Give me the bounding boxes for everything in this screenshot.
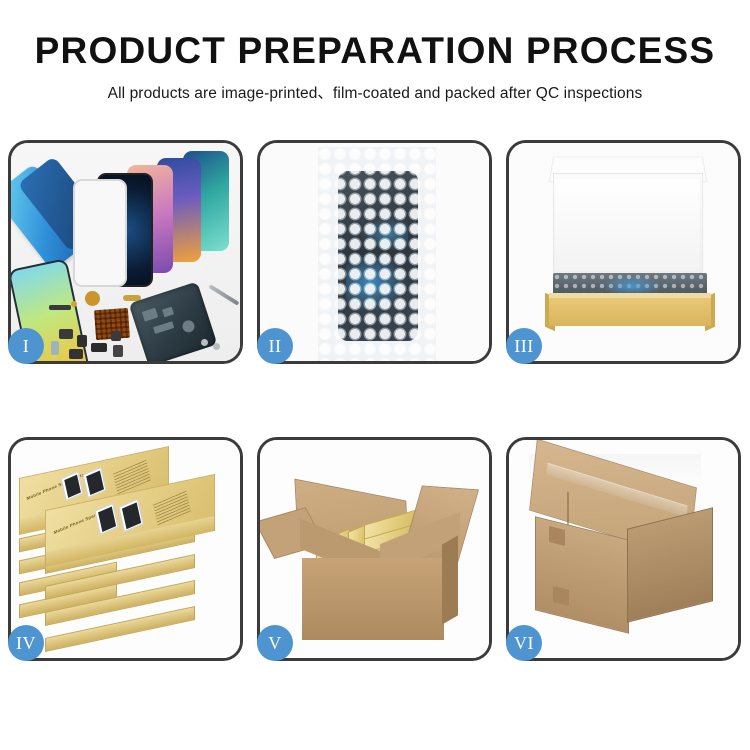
panel-image-2 (260, 143, 489, 361)
step-badge-3: III (506, 328, 542, 364)
panel-image-5 (260, 440, 489, 658)
scene-phone-parts-spread (11, 143, 240, 361)
scene-open-shipping-carton (260, 440, 489, 658)
screw-part (71, 301, 77, 307)
sim-tray-part (51, 341, 59, 355)
foam-padding (555, 179, 699, 271)
step-badge-5: V (257, 625, 293, 661)
speaker-coil-part (85, 291, 100, 306)
process-step-panel-1: I (8, 140, 243, 364)
panel-image-4: Mobile Phone Spare Parts Mobile P (11, 440, 240, 658)
loose-screw-part (213, 343, 220, 350)
scene-open-inner-box (509, 143, 738, 361)
panel-image-6 (509, 440, 738, 658)
page-subtitle: All products are image-printed、film-coat… (0, 81, 750, 103)
process-step-panel-3: III (506, 140, 741, 364)
button-part (111, 331, 121, 341)
scene-stacked-retail-boxes: Mobile Phone Spare Parts Mobile P (11, 440, 240, 658)
page-title: PRODUCT PREPARATION PROCESS (0, 32, 750, 69)
box-front-panel (549, 298, 711, 326)
earpiece-mesh-part (49, 305, 71, 310)
retail-box-top-front: Mobile Phone Spare Parts (45, 492, 213, 554)
bubble-wrap-shading (318, 147, 436, 361)
carton-side-panel (442, 535, 458, 624)
loose-screw-part (201, 339, 208, 346)
carton-front-panel (302, 558, 444, 640)
vibration-motor-part (77, 335, 87, 347)
page-header: PRODUCT PREPARATION PROCESS All products… (0, 0, 750, 103)
camera-module-part (59, 329, 73, 339)
loudspeaker-part (113, 345, 123, 357)
infographic-page: PRODUCT PREPARATION PROCESS All products… (0, 0, 750, 750)
panel-image-1 (11, 143, 240, 361)
process-step-panel-2: II (257, 140, 492, 364)
step-badge-1: I (8, 328, 44, 364)
battery-connector-part (69, 349, 83, 359)
process-step-panel-4: Mobile Phone Spare Parts Mobile P (8, 437, 243, 661)
process-step-panel-6: VI (506, 437, 741, 661)
step-badge-4: IV (8, 625, 44, 661)
white-frame-glass (73, 179, 127, 287)
scene-sealed-shipping-carton (509, 440, 738, 658)
step-badge-2: II (257, 328, 293, 364)
process-step-panel-5: V (257, 437, 492, 661)
step-badge-6: VI (506, 625, 542, 661)
charging-port-part (91, 343, 107, 352)
scene-bubble-wrapped-product (260, 143, 489, 361)
process-steps-grid: I II (8, 140, 742, 685)
panel-image-3 (509, 143, 738, 361)
